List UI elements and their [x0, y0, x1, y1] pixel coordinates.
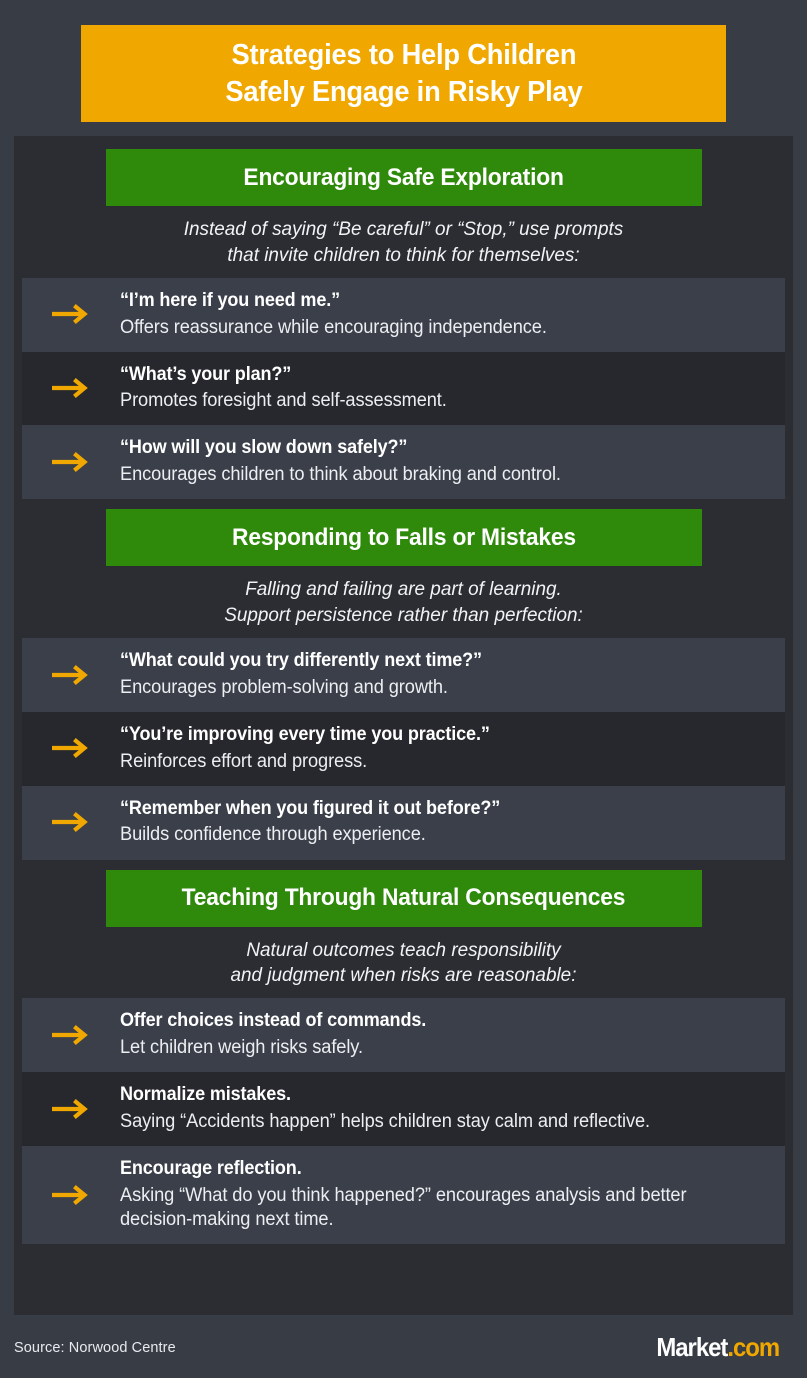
- list-item-description: Builds confidence through experience.: [120, 823, 733, 847]
- footer: Source: Norwood Centre Market.com: [0, 1317, 807, 1378]
- section-subtitle-line-1: Falling and failing are part of learning…: [64, 577, 742, 603]
- arrow-right-icon: [22, 1184, 120, 1206]
- list-item-title: Offer choices instead of commands.: [120, 1009, 727, 1034]
- title-banner: Strategies to Help Children Safely Engag…: [81, 25, 726, 122]
- section-subtitle-3: Natural outcomes teach responsibilityand…: [26, 927, 782, 999]
- arrow-right-icon: [22, 1024, 120, 1046]
- section-2: Responding to Falls or MistakesFalling a…: [14, 509, 793, 859]
- list-item: “I’m here if you need me.”Offers reassur…: [22, 278, 785, 352]
- list-item-description: Reinforces effort and progress.: [120, 750, 733, 774]
- arrow-right-icon: [22, 303, 120, 325]
- section-rows-3: Offer choices instead of commands.Let ch…: [14, 998, 793, 1244]
- list-item-body: “How will you slow down safely?”Encourag…: [120, 436, 765, 487]
- section-subtitle-2: Falling and failing are part of learning…: [26, 566, 782, 638]
- section-subtitle-line-2: Support persistence rather than perfecti…: [64, 603, 742, 629]
- arrow-right-icon: [22, 1098, 120, 1120]
- section-rows-2: “What could you try differently next tim…: [14, 638, 793, 859]
- infographic-page: Strategies to Help Children Safely Engag…: [0, 0, 807, 1378]
- section-header-2: Responding to Falls or Mistakes: [106, 509, 702, 566]
- section-header-label: Encouraging Safe Exploration: [243, 164, 563, 192]
- section-header-label: Responding to Falls or Mistakes: [232, 524, 576, 552]
- list-item-title: “What could you try differently next tim…: [120, 649, 727, 674]
- section-header-3: Teaching Through Natural Consequences: [106, 870, 702, 927]
- list-item-body: “Remember when you figured it out before…: [120, 797, 765, 848]
- section-subtitle-line-1: Natural outcomes teach responsibility: [64, 938, 742, 964]
- list-item-body: Encourage reflection.Asking “What do you…: [120, 1157, 765, 1232]
- list-item: “What’s your plan?”Promotes foresight an…: [22, 352, 785, 426]
- list-item-title: “How will you slow down safely?”: [120, 436, 727, 461]
- section-subtitle-line-2: that invite children to think for themse…: [64, 243, 742, 269]
- list-item-body: “I’m here if you need me.”Offers reassur…: [120, 289, 765, 340]
- page-title-line-1: Strategies to Help Children: [231, 39, 576, 71]
- list-item-title: “You’re improving every time you practic…: [120, 723, 727, 748]
- list-item: “Remember when you figured it out before…: [22, 786, 785, 860]
- section-subtitle-line-2: and judgment when risks are reasonable:: [64, 963, 742, 989]
- arrow-right-icon: [22, 451, 120, 473]
- market-dot-com-logo: Market.com: [657, 1332, 780, 1363]
- logo-market-text: Market: [657, 1332, 728, 1363]
- list-item: “What could you try differently next tim…: [22, 638, 785, 712]
- arrow-right-icon: [22, 664, 120, 686]
- list-item-body: “What’s your plan?”Promotes foresight an…: [120, 363, 765, 414]
- list-item-title: “Remember when you figured it out before…: [120, 797, 727, 822]
- list-item-title: Encourage reflection.: [120, 1157, 727, 1182]
- list-item-description: Asking “What do you think happened?” enc…: [120, 1184, 733, 1232]
- arrow-right-icon: [22, 811, 120, 833]
- section-header-1: Encouraging Safe Exploration: [106, 149, 702, 206]
- list-item-body: Offer choices instead of commands.Let ch…: [120, 1009, 765, 1060]
- list-item-body: Normalize mistakes.Saying “Accidents hap…: [120, 1083, 765, 1134]
- section-subtitle-line-1: Instead of saying “Be careful” or “Stop,…: [64, 217, 742, 243]
- section-rows-1: “I’m here if you need me.”Offers reassur…: [14, 278, 793, 499]
- list-item-body: “You’re improving every time you practic…: [120, 723, 765, 774]
- arrow-right-icon: [22, 737, 120, 759]
- page-title: Strategies to Help Children Safely Engag…: [225, 37, 582, 110]
- list-item: Normalize mistakes.Saying “Accidents hap…: [22, 1072, 785, 1146]
- list-item-description: Encourages children to think about braki…: [120, 463, 733, 487]
- arrow-right-icon: [22, 377, 120, 399]
- section-3: Teaching Through Natural ConsequencesNat…: [14, 870, 793, 1244]
- list-item-description: Promotes foresight and self-assessment.: [120, 389, 733, 413]
- list-item-description: Let children weigh risks safely.: [120, 1036, 733, 1060]
- section-header-label: Teaching Through Natural Consequences: [182, 884, 626, 912]
- logo-com-text: com: [734, 1332, 780, 1363]
- list-item: “You’re improving every time you practic…: [22, 712, 785, 786]
- section-1: Encouraging Safe ExplorationInstead of s…: [14, 149, 793, 499]
- list-item: “How will you slow down safely?”Encourag…: [22, 425, 785, 499]
- list-item-description: Encourages problem-solving and growth.: [120, 676, 733, 700]
- page-title-line-2: Safely Engage in Risky Play: [225, 76, 582, 108]
- list-item-title: Normalize mistakes.: [120, 1083, 727, 1108]
- content-panel: Encouraging Safe ExplorationInstead of s…: [14, 136, 793, 1315]
- list-item-title: “I’m here if you need me.”: [120, 289, 727, 314]
- list-item-title: “What’s your plan?”: [120, 363, 727, 388]
- list-item: Offer choices instead of commands.Let ch…: [22, 998, 785, 1072]
- source-label: Source: Norwood Centre: [14, 1340, 176, 1356]
- section-subtitle-1: Instead of saying “Be careful” or “Stop,…: [26, 206, 782, 278]
- list-item: Encourage reflection.Asking “What do you…: [22, 1146, 785, 1244]
- list-item-description: Saying “Accidents happen” helps children…: [120, 1110, 733, 1134]
- list-item-body: “What could you try differently next tim…: [120, 649, 765, 700]
- list-item-description: Offers reassurance while encouraging ind…: [120, 316, 733, 340]
